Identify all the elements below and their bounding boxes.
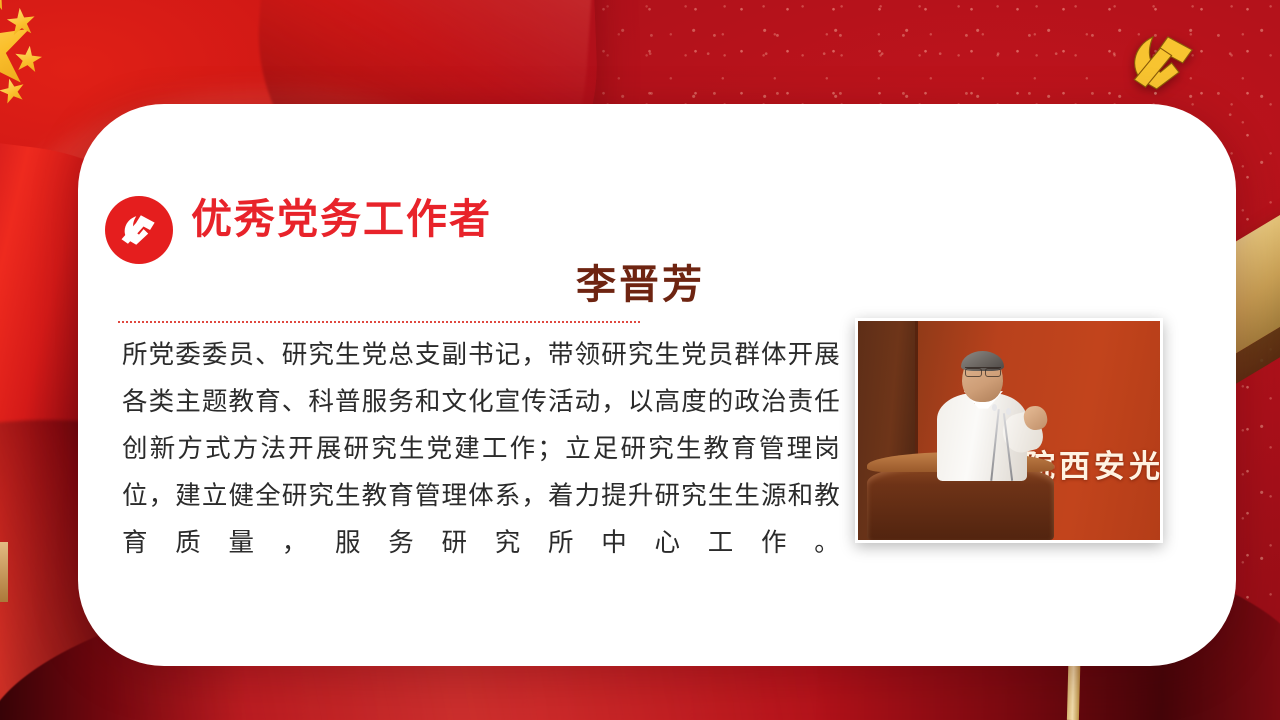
speaker-photo-image: 院西安光	[858, 321, 1160, 540]
dotted-divider	[118, 321, 640, 323]
slide-root: 优秀党务工作者 李晋芳 所党委委员、研究生党总支副书记，带领研究生党员群体开展各…	[0, 0, 1280, 720]
photo-microphone-head-1	[992, 404, 997, 411]
page-title: 优秀党务工作者	[191, 196, 492, 243]
gold-sliver-left	[0, 542, 8, 602]
party-emblem-icon	[105, 196, 173, 264]
flag-star-3	[13, 44, 44, 75]
person-name: 李晋芳	[191, 252, 705, 310]
speaker-photo: 院西安光	[855, 318, 1163, 543]
photo-speaker-glasses	[965, 367, 1001, 375]
party-emblem-gold-icon	[1118, 22, 1214, 102]
bio-paragraph: 所党委委员、研究生党总支副书记，带领研究生党员群体开展各类主题教育、科普服务和文…	[122, 332, 840, 567]
content-card: 优秀党务工作者 李晋芳 所党委委员、研究生党总支副书记，带领研究生党员群体开展各…	[78, 104, 1236, 666]
flag-star-1	[0, 0, 15, 14]
flag-star-4	[0, 75, 28, 107]
